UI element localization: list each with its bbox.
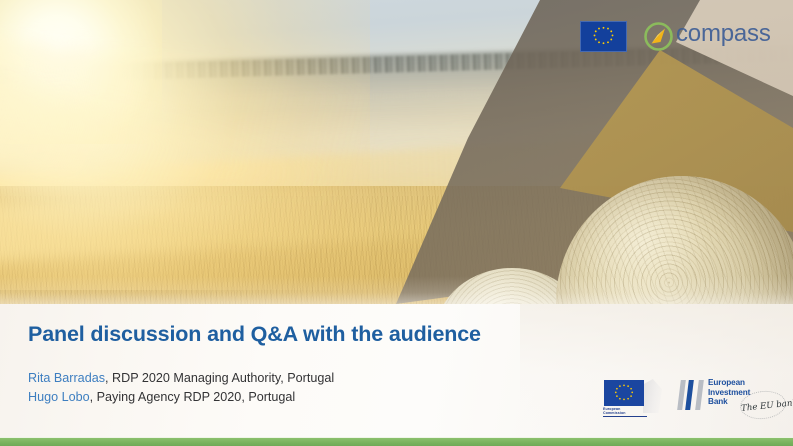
distant-hill-ridge xyxy=(0,42,793,143)
eib-line-1: European xyxy=(708,378,750,388)
wheat-highlight xyxy=(0,175,601,262)
sun-glow xyxy=(0,0,370,290)
sun-lens-flare xyxy=(0,32,376,204)
compass-wordmark: compass xyxy=(676,20,771,48)
sun-lens-flare-secondary xyxy=(0,78,336,252)
list-item: Rita Barradas, RDP 2020 Managing Authori… xyxy=(28,369,334,388)
eu-stars-icon xyxy=(581,22,626,51)
sunlit-field-band xyxy=(0,123,793,246)
european-commission-logo: European Commission xyxy=(598,378,664,418)
mid-hillside xyxy=(0,80,793,233)
sun-disc xyxy=(0,0,162,144)
eu-flag-icon xyxy=(580,21,627,52)
eib-bars-icon xyxy=(678,380,704,410)
eib-logo: European Investment Bank The EU bank xyxy=(678,376,786,418)
eib-line-2: Investment xyxy=(708,388,750,398)
photo-bottom-fade xyxy=(0,276,793,304)
footer-bar xyxy=(0,438,793,446)
speaker-name: Hugo Lobo xyxy=(28,390,90,404)
list-item: Hugo Lobo, Paying Agency RDP 2020, Portu… xyxy=(28,388,334,407)
wheat-field xyxy=(0,186,793,304)
presentation-slide: compass Panel discussion and Q&A with th… xyxy=(0,0,793,446)
eu-flag-icon xyxy=(604,380,644,406)
speaker-list: Rita Barradas, RDP 2020 Managing Authori… xyxy=(28,369,334,406)
hazy-valley xyxy=(120,120,793,206)
speaker-role: , RDP 2020 Managing Authority, Portugal xyxy=(105,371,334,385)
hay-bale-secondary xyxy=(436,268,588,304)
ec-caption: European Commission xyxy=(603,407,661,416)
page-title: Panel discussion and Q&A with the audien… xyxy=(28,322,481,347)
ec-underline xyxy=(603,416,647,417)
compass-arrow-icon xyxy=(643,21,674,52)
wheat-texture xyxy=(0,186,793,304)
compass-logo: compass xyxy=(643,18,781,56)
speaker-role: , Paying Agency RDP 2020, Portugal xyxy=(90,390,296,404)
hay-bale-primary xyxy=(556,176,793,304)
eu-stars-icon xyxy=(604,380,644,406)
wheat-texture-overlay xyxy=(0,196,793,304)
speaker-name: Rita Barradas xyxy=(28,371,105,385)
